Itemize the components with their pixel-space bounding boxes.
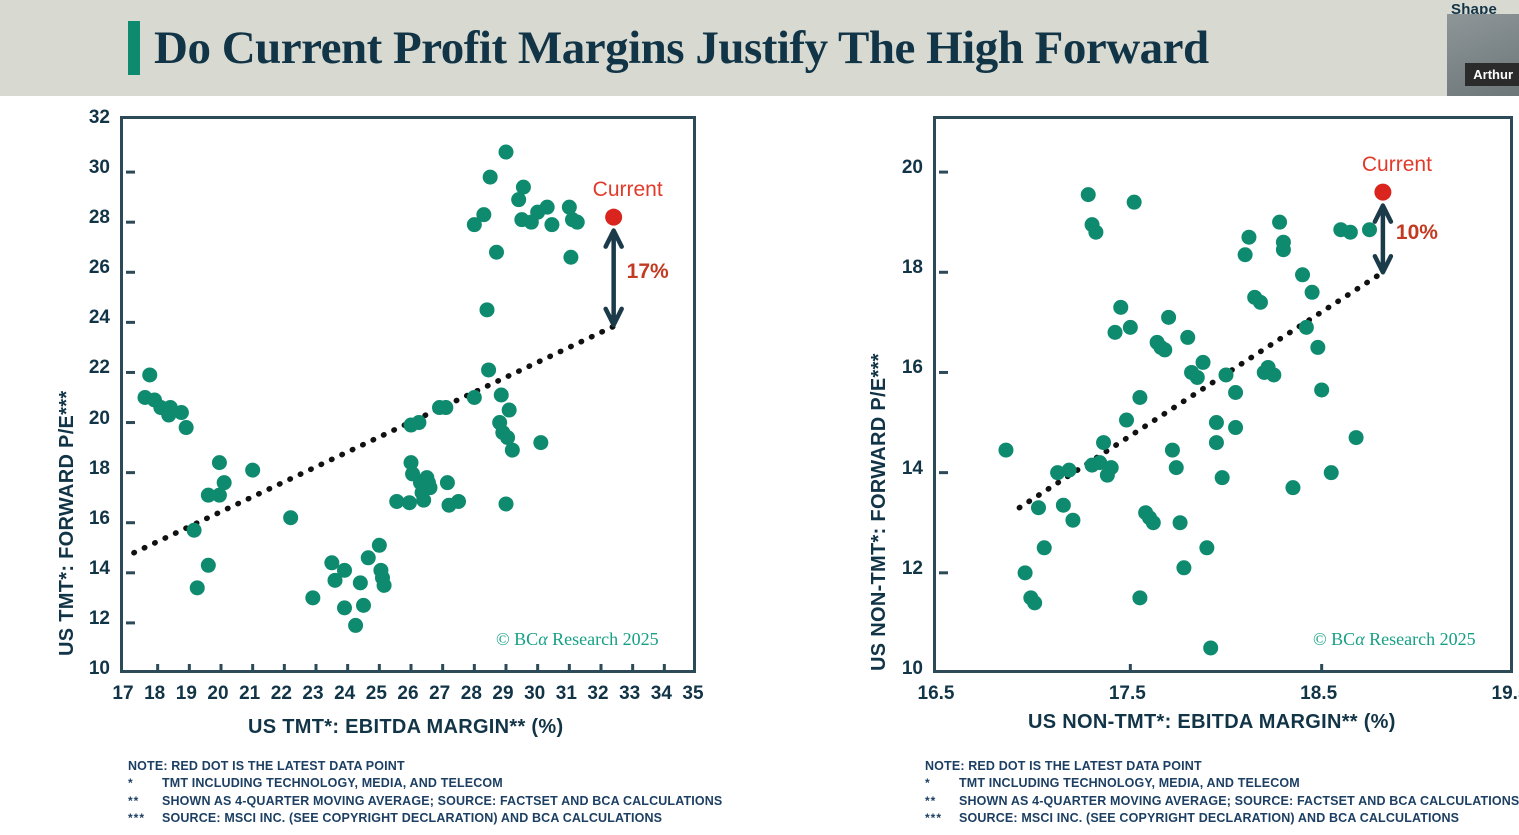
scatter-point xyxy=(190,580,205,595)
scatter-point xyxy=(353,575,368,590)
scatter-point xyxy=(142,367,157,382)
footnote-marker: *** xyxy=(128,810,162,827)
scatter-point xyxy=(1228,420,1243,435)
scatter-point xyxy=(499,145,514,160)
scatter-point xyxy=(1176,560,1191,575)
slide-header: Do Current Profit Margins Justify The Hi… xyxy=(0,0,1519,96)
footnote-marker: ** xyxy=(925,793,959,810)
scatter-point xyxy=(1081,187,1096,202)
x-axis-tick-label: 16.5 xyxy=(906,683,966,705)
scatter-point xyxy=(1132,390,1147,405)
bca-research-watermark: © BCα Research 2025 xyxy=(496,629,659,650)
scatter-point xyxy=(1173,515,1188,530)
scatter-point xyxy=(481,362,496,377)
scatter-point xyxy=(480,302,495,317)
x-axis-tick-label: 19.5 xyxy=(1480,683,1519,705)
footnotes-right: NOTE: RED DOT IS THE LATEST DATA POINT*T… xyxy=(925,758,1519,827)
scatter-point xyxy=(1219,367,1234,382)
footnote-text: TMT INCLUDING TECHNOLOGY, MEDIA, AND TEL… xyxy=(959,775,1300,792)
x-axis-tick-label: 18.5 xyxy=(1289,683,1349,705)
chart-panel-left: US TMT*: FORWARD P/E*** US TMT*: EBITDA … xyxy=(0,96,760,835)
y-axis-tick-label: 16 xyxy=(64,508,110,530)
scatter-point xyxy=(494,387,509,402)
scatter-point xyxy=(1104,460,1119,475)
scatter-point xyxy=(174,405,189,420)
y-axis-tick-label: 32 xyxy=(64,107,110,129)
scatter-point xyxy=(1209,435,1224,450)
scatter-point xyxy=(1190,370,1205,385)
scatter-point xyxy=(1123,320,1138,335)
scatter-point xyxy=(1065,513,1080,528)
scatter-point xyxy=(1031,500,1046,515)
scatter-point xyxy=(337,600,352,615)
x-axis-title-left: US TMT*: EBITDA MARGIN** (%) xyxy=(248,716,563,739)
scatter-point xyxy=(1266,367,1281,382)
y-axis-tick-label: 14 xyxy=(64,558,110,580)
footnote-marker: *** xyxy=(925,810,959,827)
scatter-point xyxy=(505,443,520,458)
scatter-point xyxy=(1096,435,1111,450)
scatter-point xyxy=(1241,230,1256,245)
scatter-point xyxy=(217,475,232,490)
footnote-marker: ** xyxy=(128,793,162,810)
scatter-point xyxy=(1088,225,1103,240)
scatter-point xyxy=(1165,443,1180,458)
scatter-point xyxy=(540,200,555,215)
scatter-point xyxy=(451,494,466,509)
scatter-point xyxy=(1253,295,1268,310)
scatter-point xyxy=(1272,215,1287,230)
footnote-text: TMT INCLUDING TECHNOLOGY, MEDIA, AND TEL… xyxy=(162,775,503,792)
participant-name-badge: Arthur xyxy=(1465,63,1519,86)
scatter-point xyxy=(1062,463,1077,478)
y-axis-tick-label: 22 xyxy=(64,357,110,379)
current-label: Current xyxy=(1362,153,1432,177)
scatter-point xyxy=(1113,300,1128,315)
scatter-point xyxy=(502,403,517,418)
footnote-row: **SHOWN AS 4-QUARTER MOVING AVERAGE; SOU… xyxy=(128,793,722,810)
scatter-point xyxy=(1314,382,1329,397)
scatter-point xyxy=(438,400,453,415)
y-axis-tick-label: 12 xyxy=(877,558,923,580)
scatter-point xyxy=(1037,540,1052,555)
scatter-point xyxy=(377,578,392,593)
scatter-point xyxy=(348,618,363,633)
scatter-point xyxy=(1169,460,1184,475)
scatter-point xyxy=(187,523,202,538)
y-axis-tick-label: 30 xyxy=(64,157,110,179)
scatter-point xyxy=(356,598,371,613)
scatter-point xyxy=(1349,430,1364,445)
scatter-point xyxy=(1228,385,1243,400)
scatter-point xyxy=(1362,222,1377,237)
gap-arrow xyxy=(606,231,622,325)
y-axis-tick-label: 16 xyxy=(877,357,923,379)
x-axis-tick-label: 35 xyxy=(663,683,723,705)
scatter-point xyxy=(533,435,548,450)
scatter-plot-svg xyxy=(939,122,1513,673)
scatter-point xyxy=(499,496,514,511)
scatter-point xyxy=(1285,480,1300,495)
footnote-text: SOURCE: MSCI INC. (SEE COPYRIGHT DECLARA… xyxy=(959,810,1459,827)
y-axis-tick-label: 14 xyxy=(877,458,923,480)
scatter-point xyxy=(361,550,376,565)
plot-frame xyxy=(933,116,1513,673)
footnote-row: ***SOURCE: MSCI INC. (SEE COPYRIGHT DECL… xyxy=(925,810,1519,827)
scatter-point xyxy=(283,510,298,525)
scatter-point xyxy=(411,415,426,430)
scatter-point xyxy=(1108,325,1123,340)
scatter-point xyxy=(1157,342,1172,357)
scatter-point xyxy=(998,443,1013,458)
scatter-point xyxy=(1310,340,1325,355)
y-axis-tick-label: 18 xyxy=(877,257,923,279)
footnote-text: NOTE: RED DOT IS THE LATEST DATA POINT xyxy=(128,758,405,775)
scatter-point xyxy=(544,217,559,232)
footnote-row: *TMT INCLUDING TECHNOLOGY, MEDIA, AND TE… xyxy=(128,775,722,792)
footnote-text: SHOWN AS 4-QUARTER MOVING AVERAGE; SOURC… xyxy=(162,793,722,810)
scatter-point xyxy=(1215,470,1230,485)
scatter-point xyxy=(1146,515,1161,530)
y-axis-tick-label: 26 xyxy=(64,257,110,279)
scatter-point xyxy=(1276,242,1291,257)
footnote-marker: * xyxy=(925,775,959,792)
scatter-point xyxy=(423,480,438,495)
scatter-point xyxy=(1085,458,1100,473)
y-axis-tick-label: 24 xyxy=(64,307,110,329)
scatter-point xyxy=(1238,247,1253,262)
scatter-point xyxy=(1203,640,1218,655)
y-axis-tick-label: 28 xyxy=(64,207,110,229)
scatter-point xyxy=(563,250,578,265)
bca-research-watermark: © BCα Research 2025 xyxy=(1313,629,1476,650)
scatter-point xyxy=(1027,595,1042,610)
scatter-point xyxy=(179,420,194,435)
footnote-row: NOTE: RED DOT IS THE LATEST DATA POINT xyxy=(128,758,722,775)
x-axis-tick-label: 17.5 xyxy=(1097,683,1157,705)
y-axis-title-right: US NON-TMT*: FORWARD P/E*** xyxy=(868,353,891,671)
footnote-row: NOTE: RED DOT IS THE LATEST DATA POINT xyxy=(925,758,1519,775)
footnote-row: *TMT INCLUDING TECHNOLOGY, MEDIA, AND TE… xyxy=(925,775,1519,792)
footnote-text: NOTE: RED DOT IS THE LATEST DATA POINT xyxy=(925,758,1202,775)
scatter-point xyxy=(372,538,387,553)
scatter-point xyxy=(1018,565,1033,580)
scatter-point xyxy=(201,558,216,573)
scatter-plot-svg xyxy=(126,122,696,673)
scatter-point xyxy=(1199,540,1214,555)
gap-arrow xyxy=(1375,206,1391,273)
scatter-point xyxy=(389,494,404,509)
y-axis-tick-label: 10 xyxy=(64,658,110,680)
header-accent-bar xyxy=(128,21,140,75)
scatter-point xyxy=(489,245,504,260)
scatter-point xyxy=(1305,285,1320,300)
gap-percent-label: 17% xyxy=(627,260,669,284)
scatter-point xyxy=(476,207,491,222)
scatter-point xyxy=(1196,355,1211,370)
footnotes-left: NOTE: RED DOT IS THE LATEST DATA POINT*T… xyxy=(128,758,722,827)
scatter-point xyxy=(1056,498,1071,513)
y-axis-tick-label: 18 xyxy=(64,458,110,480)
scatter-point xyxy=(440,475,455,490)
scatter-point xyxy=(562,200,577,215)
scatter-point xyxy=(1299,320,1314,335)
y-axis-tick-label: 20 xyxy=(64,408,110,430)
scatter-point xyxy=(402,495,417,510)
slide-root: Do Current Profit Margins Justify The Hi… xyxy=(0,0,1519,835)
page-title: Do Current Profit Margins Justify The Hi… xyxy=(154,21,1209,75)
scatter-point xyxy=(212,455,227,470)
participant-video-thumbnail[interactable]: Arthur xyxy=(1447,14,1519,96)
footnote-marker: * xyxy=(128,775,162,792)
footnote-text: SHOWN AS 4-QUARTER MOVING AVERAGE; SOURC… xyxy=(959,793,1519,810)
scatter-point xyxy=(1343,225,1358,240)
y-axis-tick-label: 12 xyxy=(64,608,110,630)
scatter-point xyxy=(305,590,320,605)
x-axis-title-right: US NON-TMT*: EBITDA MARGIN** (%) xyxy=(1028,711,1396,734)
footnote-row: ***SOURCE: MSCI INC. (SEE COPYRIGHT DECL… xyxy=(128,810,722,827)
y-axis-tick-label: 20 xyxy=(877,157,923,179)
scatter-point xyxy=(1209,415,1224,430)
scatter-point xyxy=(1127,195,1142,210)
scatter-point xyxy=(1295,267,1310,282)
chart-panel-right: US NON-TMT*: FORWARD P/E*** US NON-TMT*:… xyxy=(760,96,1519,835)
footnote-text: SOURCE: MSCI INC. (SEE COPYRIGHT DECLARA… xyxy=(162,810,662,827)
scatter-point xyxy=(516,180,531,195)
plot-area-right xyxy=(933,116,1513,673)
scatter-point xyxy=(1119,413,1134,428)
scatter-point xyxy=(1324,465,1339,480)
footnote-row: **SHOWN AS 4-QUARTER MOVING AVERAGE; SOU… xyxy=(925,793,1519,810)
scatter-point xyxy=(337,563,352,578)
current-label: Current xyxy=(593,178,663,202)
current-data-point xyxy=(1374,184,1391,201)
scatter-point xyxy=(570,215,585,230)
scatter-point xyxy=(1161,310,1176,325)
current-data-point xyxy=(605,209,622,226)
y-axis-tick-label: 10 xyxy=(877,658,923,680)
scatter-point xyxy=(1132,590,1147,605)
scatter-point xyxy=(467,390,482,405)
scatter-point xyxy=(483,170,498,185)
scatter-point xyxy=(1180,330,1195,345)
scatter-point xyxy=(245,463,260,478)
gap-percent-label: 10% xyxy=(1396,221,1438,245)
scatter-point xyxy=(324,555,339,570)
scatter-point xyxy=(161,408,176,423)
scatter-point xyxy=(373,563,388,578)
